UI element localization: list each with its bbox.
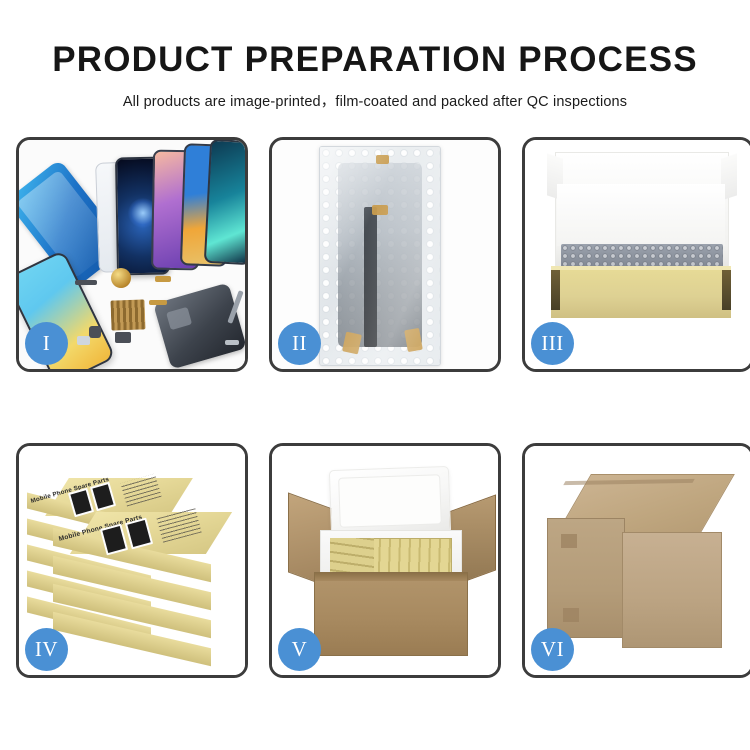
sim-tray-icon	[77, 336, 90, 345]
box-corner-right	[722, 270, 731, 310]
step-badge-2: II	[278, 322, 321, 365]
carton-tape-patch-bottom	[563, 608, 579, 622]
step-panel-1[interactable]: I	[16, 137, 248, 372]
step-numeral-2: II	[292, 331, 307, 356]
camera-module-icon	[89, 326, 101, 338]
vibration-motor-icon	[111, 268, 131, 288]
flex-cable-strip	[364, 207, 377, 347]
carton-left-face	[547, 518, 625, 638]
box-front-yellow	[551, 270, 731, 318]
foam-cooler-lid	[329, 466, 451, 538]
page-header: PRODUCT PREPARATION PROCESS All products…	[0, 0, 750, 111]
step-numeral-4: IV	[35, 637, 58, 662]
gold-tab-icon-1	[376, 155, 389, 164]
logic-board-icon	[110, 299, 145, 330]
step-numeral-3: III	[541, 331, 563, 356]
step-panel-3[interactable]: III	[522, 137, 750, 372]
step-numeral-6: VI	[541, 637, 564, 662]
phone-back-housing-icon	[153, 283, 245, 369]
speaker-module-icon	[115, 332, 131, 343]
carton-right-face	[622, 532, 722, 648]
step-badge-3: III	[531, 322, 574, 365]
process-steps-grid: I II	[16, 137, 734, 678]
step-panel-4[interactable]: Mobile Phone Spare Parts Mobile Phone Sp…	[16, 443, 248, 678]
screws-icon	[225, 340, 239, 345]
page-title: PRODUCT PREPARATION PROCESS	[0, 0, 750, 77]
product-preparation-process-page: PRODUCT PREPARATION PROCESS All products…	[0, 0, 750, 750]
step-numeral-5: V	[292, 637, 308, 662]
phone-display-teal-icon	[204, 140, 245, 265]
bubble-wrap-bag	[319, 146, 441, 366]
step-panel-2[interactable]: II	[269, 137, 501, 372]
page-subtitle: All products are image-printed，film-coat…	[0, 77, 750, 111]
step-badge-6: VI	[531, 628, 574, 671]
step-badge-1: I	[25, 322, 68, 365]
step-badge-5: V	[278, 628, 321, 671]
connector-icon-1	[155, 276, 171, 282]
gold-tab-icon-2	[372, 205, 388, 215]
wrapped-phone-part	[338, 163, 422, 347]
step-numeral-1: I	[43, 331, 51, 356]
box-corner-left	[551, 270, 560, 310]
foam-liner	[557, 184, 725, 246]
step-panel-5[interactable]: V	[269, 443, 501, 678]
flex-cable-icon-1	[75, 280, 97, 285]
step-panel-6[interactable]: VI	[522, 443, 750, 678]
carton-tape-patch-top	[561, 534, 577, 548]
shipping-carton-body	[314, 572, 468, 656]
step-badge-4: IV	[25, 628, 68, 671]
connector-icon-2	[149, 300, 167, 305]
gold-tab-icon-3	[342, 332, 362, 355]
